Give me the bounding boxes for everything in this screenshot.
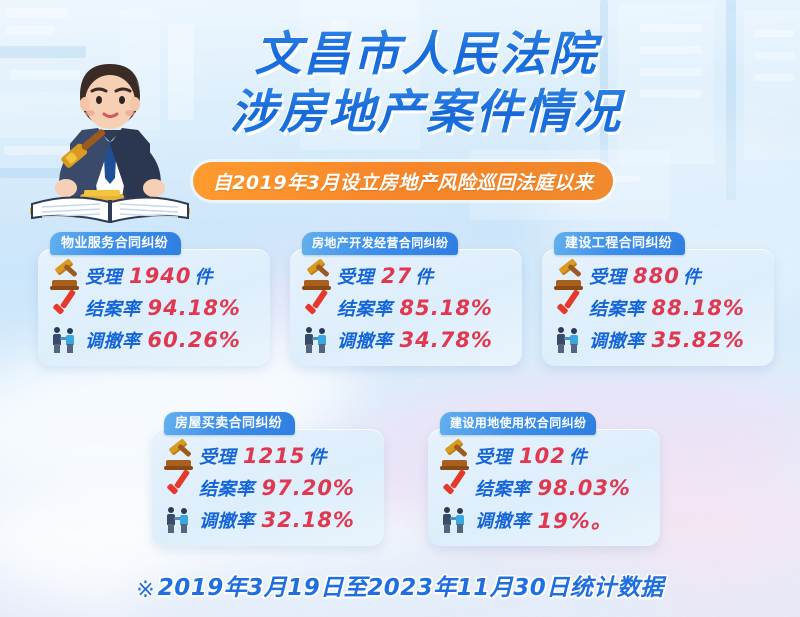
footer-note: ※2019年3月19日至2023年11月30日统计数据 — [0, 568, 800, 603]
stat-unit-cases: 件 — [194, 263, 212, 289]
card-body: 受理 1215 件 结案率 97.20% 调撤率 32.18% — [152, 429, 384, 546]
stat-label-closure-rate: 结案率 — [337, 295, 393, 321]
stat-value-mediation-rate: 34.78% — [400, 328, 493, 352]
check-icon — [50, 294, 80, 322]
check-icon — [302, 294, 332, 322]
stat-label-mediation-rate: 调撤率 — [85, 327, 141, 353]
stat-card-house-sale[interactable]: 房屋买卖合同纠纷 受理 1215 件 结案率 97.20% 调撤率 32.18% — [152, 412, 384, 546]
footer-note-text: 2019年3月19日至2023年11月30日统计数据 — [158, 575, 664, 601]
stat-value-accepted: 27 — [381, 264, 412, 288]
people-icon — [50, 326, 80, 354]
stat-row-closure-rate: 结案率 85.18% — [302, 293, 512, 323]
stat-row-accepted: 受理 27 件 — [302, 261, 512, 291]
card-title-tab: 物业服务合同纠纷 — [50, 232, 181, 255]
stat-card-construction-land-use-right[interactable]: 建设用地使用权合同纠纷 受理 102 件 结案率 98.03% 调撤率 19%。 — [428, 412, 660, 546]
card-body: 受理 102 件 结案率 98.03% 调撤率 19%。 — [428, 429, 660, 546]
judge-illustration-svg — [22, 38, 202, 223]
stat-row-mediation-rate: 调撤率 60.26% — [50, 325, 260, 355]
stat-row-closure-rate: 结案率 88.18% — [554, 293, 764, 323]
stat-row-closure-rate: 结案率 97.20% — [164, 473, 374, 503]
stat-value-accepted: 880 — [633, 264, 680, 288]
gavel-icon — [554, 262, 584, 290]
stat-label-accepted: 受理 — [337, 263, 374, 289]
stat-value-mediation-rate: 35.82% — [652, 328, 745, 352]
card-body: 受理 880 件 结案率 88.18% 调撤率 35.82% — [542, 249, 774, 366]
stat-row-accepted: 受理 880 件 — [554, 261, 764, 291]
people-icon — [164, 506, 194, 534]
stat-label-closure-rate: 结案率 — [589, 295, 645, 321]
card-title-tab: 建设工程合同纠纷 — [554, 232, 685, 255]
stat-row-accepted: 受理 1940 件 — [50, 261, 260, 291]
stat-value-closure-rate: 88.18% — [652, 296, 745, 320]
stat-label-closure-rate: 结案率 — [199, 475, 255, 501]
stat-value-mediation-rate: 19%。 — [538, 505, 613, 535]
gavel-icon — [50, 262, 80, 290]
stat-unit-cases: 件 — [308, 443, 326, 469]
stat-value-closure-rate: 98.03% — [538, 476, 631, 500]
reference-mark-icon: ※ — [136, 577, 154, 603]
check-icon — [164, 474, 194, 502]
stat-label-accepted: 受理 — [85, 263, 122, 289]
title-line-1: 文昌市人民法院 — [196, 26, 656, 84]
stat-label-closure-rate: 结案率 — [85, 295, 141, 321]
gavel-icon — [164, 442, 194, 470]
card-body: 受理 27 件 结案率 85.18% 调撤率 34.78% — [290, 249, 522, 366]
title-line-2: 涉房地产案件情况 — [196, 84, 656, 142]
people-icon — [440, 506, 470, 534]
stat-unit-cases: 件 — [683, 263, 701, 289]
stat-value-closure-rate: 85.18% — [400, 296, 493, 320]
stat-value-closure-rate: 97.20% — [262, 476, 355, 500]
stat-row-closure-rate: 结案率 98.03% — [440, 473, 650, 503]
stat-row-mediation-rate: 调撤率 32.18% — [164, 505, 374, 535]
subtitle-banner: 自2019年3月设立房地产风险巡回法庭以来 — [193, 162, 613, 200]
stat-card-property-service[interactable]: 物业服务合同纠纷 受理 1940 件 结案率 94.18% 调撤率 60.26% — [38, 232, 270, 366]
stat-row-closure-rate: 结案率 94.18% — [50, 293, 260, 323]
stat-unit-cases: 件 — [415, 263, 433, 289]
stat-label-accepted: 受理 — [589, 263, 626, 289]
subtitle-banner-text: 自2019年3月设立房地产风险巡回法庭以来 — [213, 168, 594, 195]
stat-value-mediation-rate: 60.26% — [148, 328, 241, 352]
stat-value-closure-rate: 94.18% — [148, 296, 241, 320]
check-icon — [554, 294, 584, 322]
stat-label-accepted: 受理 — [199, 443, 236, 469]
people-icon — [302, 326, 332, 354]
stat-row-mediation-rate: 调撤率 35.82% — [554, 325, 764, 355]
people-icon — [554, 326, 584, 354]
stat-label-mediation-rate: 调撤率 — [199, 507, 255, 533]
stat-label-closure-rate: 结案率 — [475, 475, 531, 501]
stat-label-mediation-rate: 调撤率 — [337, 327, 393, 353]
card-title-tab: 建设用地使用权合同纠纷 — [440, 412, 596, 435]
stat-label-accepted: 受理 — [475, 443, 512, 469]
stat-value-accepted: 1940 — [129, 264, 191, 288]
stat-value-accepted: 1215 — [243, 444, 305, 468]
stat-value-accepted: 102 — [519, 444, 566, 468]
stat-row-accepted: 受理 1215 件 — [164, 441, 374, 471]
card-body: 受理 1940 件 结案率 94.18% 调撤率 60.26% — [38, 249, 270, 366]
page-title: 文昌市人民法院 涉房地产案件情况 — [196, 26, 656, 142]
stat-row-mediation-rate: 调撤率 34.78% — [302, 325, 512, 355]
stat-card-realestate-development[interactable]: 房地产开发经营合同纠纷 受理 27 件 结案率 85.18% 调撤率 34.78… — [290, 232, 522, 366]
judge-illustration — [22, 38, 202, 223]
card-title-tab: 房屋买卖合同纠纷 — [164, 412, 295, 435]
stat-row-mediation-rate: 调撤率 19%。 — [440, 505, 650, 535]
stat-row-accepted: 受理 102 件 — [440, 441, 650, 471]
stat-card-construction-project[interactable]: 建设工程合同纠纷 受理 880 件 结案率 88.18% 调撤率 35.82% — [542, 232, 774, 366]
stat-label-mediation-rate: 调撤率 — [589, 327, 645, 353]
gavel-icon — [302, 262, 332, 290]
check-icon — [440, 474, 470, 502]
stat-label-mediation-rate: 调撤率 — [475, 507, 531, 533]
gavel-icon — [440, 442, 470, 470]
card-title-tab: 房地产开发经营合同纠纷 — [302, 232, 458, 255]
stat-unit-cases: 件 — [569, 443, 587, 469]
stat-value-mediation-rate: 32.18% — [262, 508, 355, 532]
infographic-poster: 文昌市人民法院 涉房地产案件情况 自2019年3月设立房地产风险巡回法庭以来 物… — [0, 0, 800, 617]
